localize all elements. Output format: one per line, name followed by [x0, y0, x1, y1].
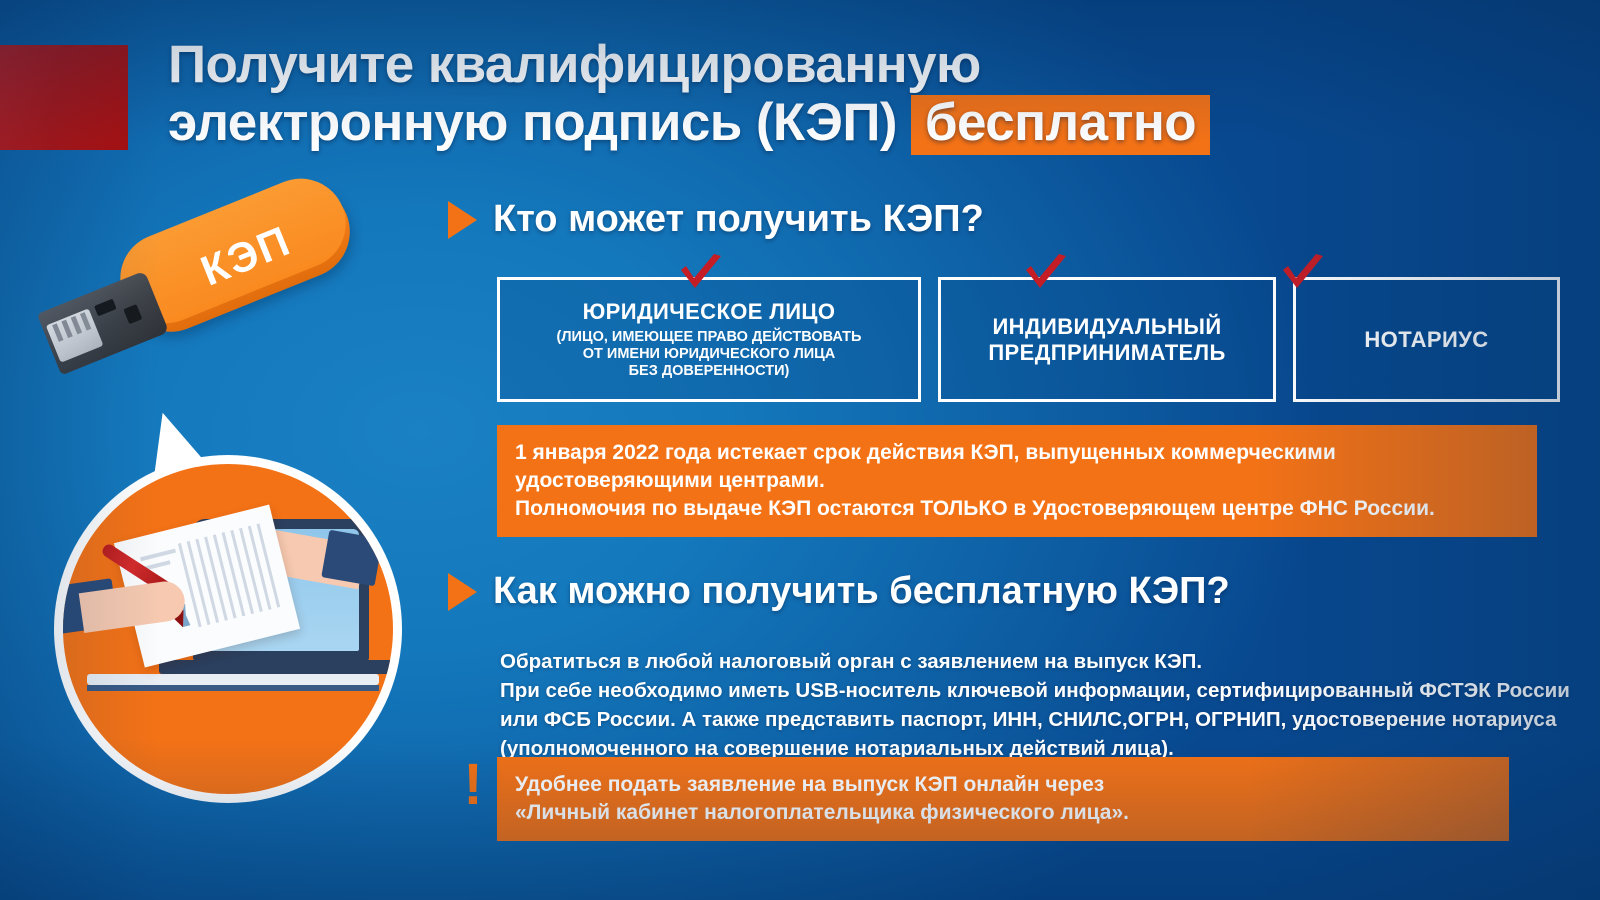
laptop-document-signing-icon [54, 455, 402, 803]
page-title: Получите квалифицированную электронную п… [168, 36, 1558, 155]
red-flag-block [0, 45, 128, 150]
check-mark-icon [1280, 254, 1326, 294]
category-subtitle: (ЛИЦО, ИМЕЮЩЕЕ ПРАВО ДЕЙСТВОВАТЬ ОТ ИМЕН… [557, 329, 862, 380]
exclamation-mark-icon: ! [462, 758, 484, 812]
section-heading-how: Как можно получить бесплатную КЭП? [448, 570, 1230, 613]
usb-connector-icon [37, 271, 169, 376]
check-mark-icon [1023, 254, 1069, 294]
category-box-notary: НОТАРИУС [1293, 277, 1560, 402]
category-title: ЮРИДИЧЕСКОЕ ЛИЦО [583, 299, 836, 325]
notice-online-submission: Удобнее подать заявление на выпуск КЭП о… [497, 757, 1509, 841]
headline-highlight-free: бесплатно [911, 95, 1210, 155]
section-title-who: Кто может получить КЭП? [493, 198, 984, 241]
how-to-body-text: Обратиться в любой налоговый орган с зая… [500, 647, 1570, 763]
headline-line-1: Получите квалифицированную [168, 36, 1558, 94]
section-heading-who: Кто может получить КЭП? [448, 198, 984, 241]
infographic-poster: Получите квалифицированную электронную п… [0, 0, 1600, 900]
section-title-how: Как можно получить бесплатную КЭП? [493, 570, 1230, 613]
category-box-sole-proprietor: ИНДИВИДУАЛЬНЫЙ ПРЕДПРИНИМАТЕЛЬ [938, 277, 1276, 402]
triangle-right-icon [448, 201, 477, 239]
check-mark-icon [678, 254, 724, 294]
headline-line-2: электронную подпись (КЭП) [168, 94, 897, 152]
category-box-legal-entity: ЮРИДИЧЕСКОЕ ЛИЦО (ЛИЦО, ИМЕЮЩЕЕ ПРАВО ДЕ… [497, 277, 921, 402]
usb-flash-drive-icon: КЭП [35, 198, 365, 413]
triangle-right-icon [448, 573, 477, 611]
category-box-row: ЮРИДИЧЕСКОЕ ЛИЦО (ЛИЦО, ИМЕЮЩЕЕ ПРАВО ДЕ… [497, 277, 1560, 402]
category-title: ИНДИВИДУАЛЬНЫЙ ПРЕДПРИНИМАТЕЛЬ [988, 314, 1225, 366]
category-title: НОТАРИУС [1364, 327, 1488, 353]
notice-expiry: 1 января 2022 года истекает срок действи… [497, 425, 1537, 537]
